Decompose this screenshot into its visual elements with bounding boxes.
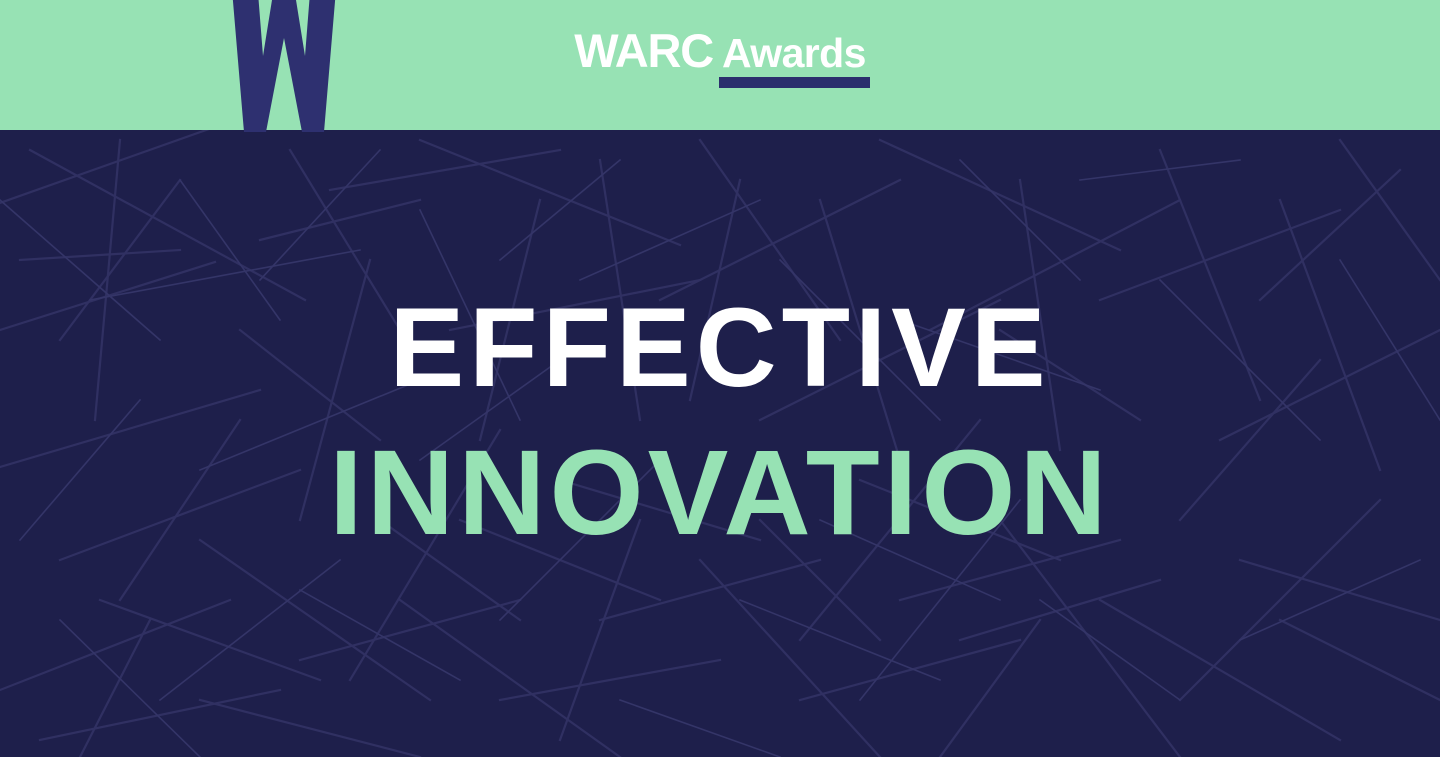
brand-name-warc: WARC: [574, 27, 713, 74]
brand-name-awards: Awards: [722, 33, 866, 74]
brand-underline-rule: [719, 77, 870, 88]
headline-line-innovation: INNOVATION: [0, 432, 1440, 553]
headline-line-effective: EFFECTIVE: [0, 292, 1440, 404]
warc-awards-wordmark: WARC Awards: [0, 27, 1440, 74]
headline-block: EFFECTIVE INNOVATION: [0, 292, 1440, 553]
warc-awards-banner: WARC Awards EFFECTIVE INNOVATION: [0, 0, 1440, 757]
